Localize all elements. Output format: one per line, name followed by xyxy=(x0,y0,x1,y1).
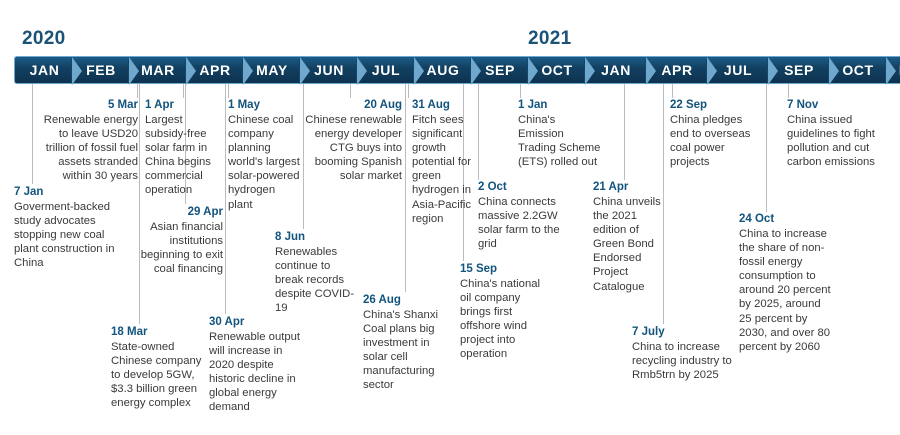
timeline-event[interactable]: 1 JanChina's Emission Trading Scheme (ET… xyxy=(518,98,602,169)
event-date: 7 July xyxy=(632,325,732,339)
event-date: 8 Jun xyxy=(275,230,360,244)
leader-line xyxy=(225,84,226,314)
event-date: 31 Aug xyxy=(412,98,474,112)
leader-line xyxy=(788,84,789,98)
timeline-event[interactable]: 24 OctChina to increase the share of non… xyxy=(739,212,831,354)
event-date: 29 Apr xyxy=(133,205,223,219)
month-label: OCT xyxy=(539,62,572,78)
event-description: Goverment-backed study advocates stoppin… xyxy=(14,200,120,270)
event-date: 18 Mar xyxy=(111,325,203,339)
month-label: JAN xyxy=(599,62,631,78)
leader-line xyxy=(32,84,33,184)
leader-line xyxy=(137,84,138,98)
month-label: AUG xyxy=(425,62,460,78)
timeline-event[interactable]: 7 JulyChina to increase recycling indust… xyxy=(632,325,732,382)
event-date: 24 Oct xyxy=(739,212,831,226)
event-date: 1 May xyxy=(228,98,300,112)
event-description: China to increase the share of non-fossi… xyxy=(739,227,831,354)
year-label-2021: 2021 xyxy=(528,28,571,50)
month-label: JUN xyxy=(312,62,344,78)
event-date: 30 Apr xyxy=(209,315,306,329)
event-description: China unveils the 2021 edition of Green … xyxy=(593,195,661,294)
event-description: Asian financial institutions beginning t… xyxy=(133,220,223,276)
timeline-event[interactable]: 1 AprLargest subsidy-free solar farm in … xyxy=(145,98,211,198)
event-description: China's Emission Trading Scheme (ETS) ro… xyxy=(518,113,602,169)
leader-line xyxy=(228,84,229,98)
leader-line xyxy=(350,84,351,98)
leader-line xyxy=(405,84,406,292)
timeline-event[interactable]: 18 MarState-owned Chinese company to dev… xyxy=(111,325,203,410)
event-description: China connects massive 2.2GW solar farm … xyxy=(478,195,570,251)
timeline-event[interactable]: 15 SepChina's national oil company bring… xyxy=(460,262,550,362)
month-label: FEB xyxy=(84,62,116,78)
year-label-2020: 2020 xyxy=(22,28,65,50)
event-date: 5 Mar xyxy=(36,98,138,112)
event-date: 7 Nov xyxy=(787,98,879,112)
timeline-event[interactable]: 26 AugChina's Shanxi Coal plans big inve… xyxy=(363,293,456,393)
event-date: 1 Apr xyxy=(145,98,211,112)
event-date: 15 Sep xyxy=(460,262,550,276)
event-description: Renewable output will increase in 2020 d… xyxy=(209,330,306,415)
timeline-infographic: 2020 2021 JANFEBMARAPRMAYJUNJULAUGSEPOCT… xyxy=(0,0,900,435)
event-description: China's Shanxi Coal plans big investment… xyxy=(363,308,456,393)
event-description: Renewables continue to break records des… xyxy=(275,245,360,315)
leader-line xyxy=(624,84,625,180)
month-label: JAN xyxy=(28,62,60,78)
leader-line xyxy=(478,84,479,180)
event-date: 26 Aug xyxy=(363,293,456,307)
month-label: MAR xyxy=(139,62,175,78)
timeline-event[interactable]: 7 JanGoverment-backed study advocates st… xyxy=(14,185,120,270)
leader-line xyxy=(139,84,140,324)
timeline-month-bar: JANFEBMARAPRMAYJUNJULAUGSEPOCTJANAPRJULS… xyxy=(14,56,900,84)
month-label: APR xyxy=(197,62,230,78)
timeline-event[interactable]: 22 SepChina pledges end to overseas coal… xyxy=(670,98,764,169)
timeline-event[interactable]: 2 OctChina connects massive 2.2GW solar … xyxy=(478,180,570,251)
event-description: China to increase recycling industry to … xyxy=(632,340,732,382)
event-description: Largest subsidy-free solar farm in China… xyxy=(145,113,211,198)
event-date: 20 Aug xyxy=(303,98,402,112)
month-label: SEP xyxy=(782,62,814,78)
timeline-event[interactable]: 21 AprChina unveils the 2021 edition of … xyxy=(593,180,661,294)
leader-line xyxy=(672,84,673,98)
month-label: JUL xyxy=(370,62,400,78)
event-description: Chinese coal company planning world's la… xyxy=(228,113,300,212)
event-description: Chinese renewable energy developer CTG b… xyxy=(303,113,402,183)
event-description: China's national oil company brings firs… xyxy=(460,277,550,362)
month-segment-jan-0[interactable]: JAN xyxy=(14,56,72,84)
timeline-event[interactable]: 5 MarRenewable energy to leave USD20 tri… xyxy=(36,98,138,183)
event-description: Fitch sees significant growth potential … xyxy=(412,113,474,226)
timeline-event[interactable]: 7 NovChina issued guidelines to fight po… xyxy=(787,98,879,169)
event-description: China pledges end to overseas coal power… xyxy=(670,113,764,169)
event-date: 21 Apr xyxy=(593,180,661,194)
event-date: 22 Sep xyxy=(670,98,764,112)
month-label: MAY xyxy=(254,62,288,78)
event-date: 2 Oct xyxy=(478,180,570,194)
event-description: State-owned Chinese company to develop 5… xyxy=(111,340,203,410)
month-label: APR xyxy=(659,62,692,78)
timeline-event[interactable]: 29 AprAsian financial institutions begin… xyxy=(133,205,223,276)
timeline-event[interactable]: 8 JunRenewables continue to break record… xyxy=(275,230,360,315)
timeline-event[interactable]: 20 AugChinese renewable energy developer… xyxy=(303,98,402,183)
event-description: Renewable energy to leave USD20 trillion… xyxy=(36,113,138,183)
month-label: SEP xyxy=(483,62,515,78)
leader-line xyxy=(408,84,409,98)
event-date: 7 Jan xyxy=(14,185,120,199)
leader-line xyxy=(766,84,767,212)
month-label: OCT xyxy=(840,62,873,78)
event-description: China issued guidelines to fight polluti… xyxy=(787,113,879,169)
month-label: JUL xyxy=(722,62,752,78)
timeline-event[interactable]: 30 AprRenewable output will increase in … xyxy=(209,315,306,415)
timeline-event[interactable]: 31 AugFitch sees significant growth pote… xyxy=(412,98,474,226)
timeline-event[interactable]: 1 MayChinese coal company planning world… xyxy=(228,98,300,212)
leader-line xyxy=(663,84,664,324)
leader-line xyxy=(520,84,521,98)
event-date: 1 Jan xyxy=(518,98,602,112)
leader-line xyxy=(183,84,184,98)
